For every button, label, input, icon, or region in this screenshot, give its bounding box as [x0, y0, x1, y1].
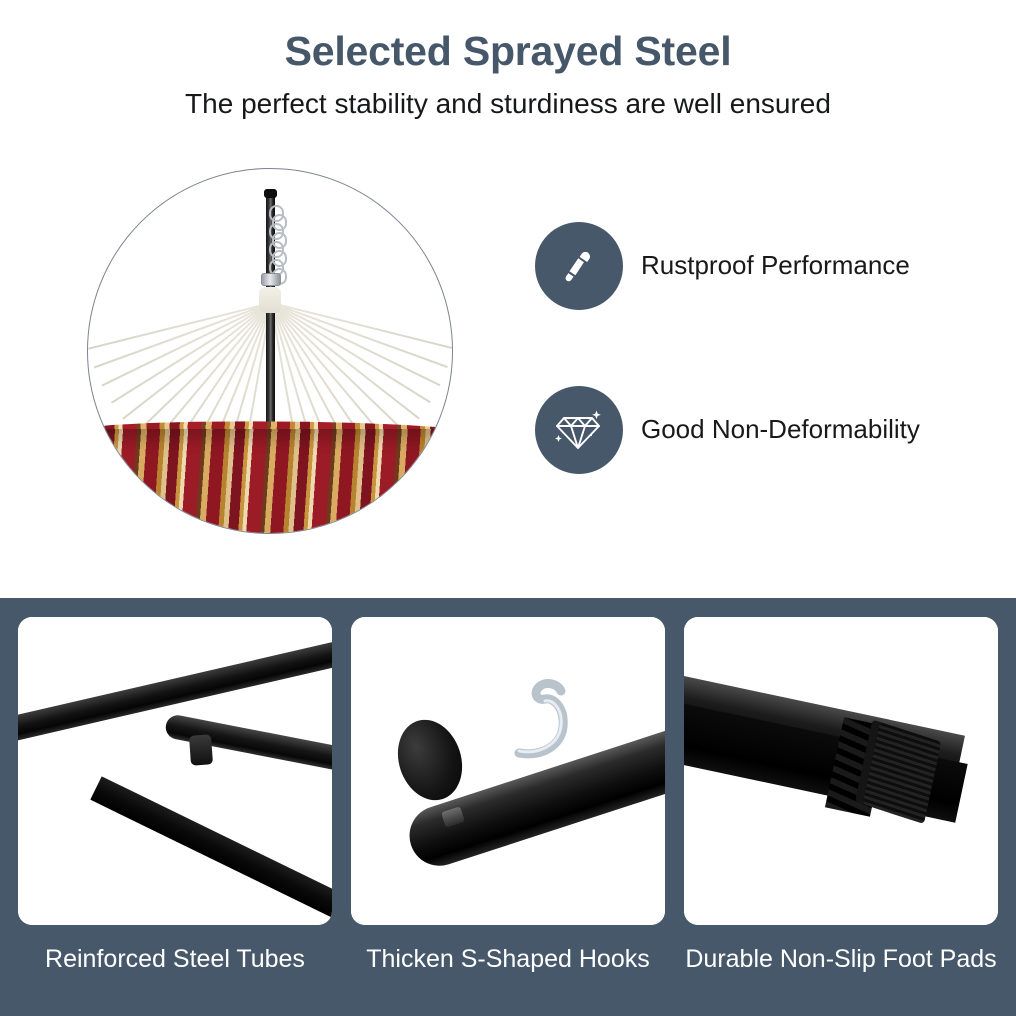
feature-item-rustproof: Rustproof Performance [535, 222, 975, 310]
caption-s-hooks: Thicken S-Shaped Hooks [351, 943, 665, 975]
feature-label: Rustproof Performance [641, 250, 910, 281]
mask-left [87, 413, 88, 533]
s-shaped-hook-photo [351, 617, 665, 925]
caption-steel-tubes: Reinforced Steel Tubes [18, 943, 332, 975]
hammock-closeup-photo [87, 168, 453, 534]
infographic-page: Selected Sprayed Steel The perfect stabi… [0, 0, 1016, 1016]
page-subtitle: The perfect stability and sturdiness are… [0, 75, 1016, 121]
feature-item-non-deformability: Good Non-Deformability [535, 386, 975, 474]
steel-tube-joint-photo [18, 617, 332, 925]
string-knot [259, 287, 281, 313]
diamond-icon [535, 386, 623, 474]
page-title: Selected Sprayed Steel [0, 0, 1016, 75]
card-captions: Reinforced Steel Tubes Thicken S-Shaped … [18, 943, 998, 975]
spray-paint-icon [535, 222, 623, 310]
s-hook [501, 677, 593, 759]
tube-end-cap [388, 711, 472, 808]
detail-card-foot-pads [684, 617, 998, 925]
photo-content [88, 169, 452, 533]
detail-cards [18, 617, 998, 925]
tube-connector [189, 734, 213, 765]
feature-list: Rustproof Performance [535, 222, 975, 474]
hanging-chain [269, 205, 283, 281]
detail-card-s-hooks [351, 617, 665, 925]
mask-right [452, 413, 453, 533]
tube-diagonal [90, 776, 332, 925]
pole-cap [264, 189, 277, 198]
metal-collar [261, 273, 281, 286]
header: Selected Sprayed Steel The perfect stabi… [0, 0, 1016, 150]
rubber-foot-pad-photo [684, 617, 998, 925]
feature-label: Good Non-Deformability [641, 414, 920, 445]
detail-panel: Reinforced Steel Tubes Thicken S-Shaped … [0, 598, 1016, 1016]
caption-foot-pads: Durable Non-Slip Foot Pads [684, 943, 998, 975]
hero-section: Rustproof Performance [0, 150, 1016, 598]
detail-card-steel-tubes [18, 617, 332, 925]
